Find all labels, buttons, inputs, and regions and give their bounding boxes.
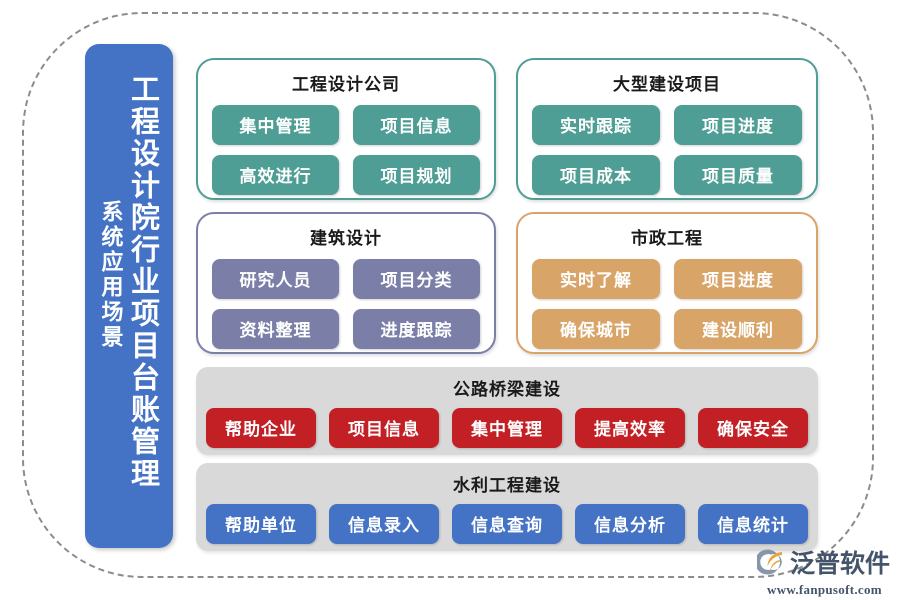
chip-item[interactable]: 实时跟踪: [532, 105, 660, 145]
watermark-logo: 泛普软件 www.fanpusoft.com: [757, 548, 897, 594]
chip-item[interactable]: 实时了解: [532, 259, 660, 299]
chip-item[interactable]: 集中管理: [452, 408, 562, 448]
band-chip-row: 帮助企业 项目信息 集中管理 提高效率 确保安全: [196, 400, 818, 448]
chip-item[interactable]: 进度跟踪: [353, 309, 480, 349]
chip-item[interactable]: 确保城市: [532, 309, 660, 349]
logo-url: www.fanpusoft.com: [767, 582, 897, 598]
side-title-main: 工程设计院行业项目台账管理: [128, 74, 157, 490]
side-title-panel: 工程设计院行业项目台账管理 系统应用场景: [85, 44, 173, 548]
chip-item[interactable]: 帮助企业: [206, 408, 316, 448]
chip-item[interactable]: 高效进行: [212, 155, 339, 195]
chip-item[interactable]: 项目质量: [674, 155, 802, 195]
card-chip-grid: 研究人员 项目分类 资料整理 进度跟踪: [198, 249, 494, 361]
card-chip-grid: 实时了解 项目进度 确保城市 建设顺利: [518, 249, 816, 361]
logo-row: 泛普软件: [757, 548, 897, 581]
band-water: 水利工程建设 帮助单位 信息录入 信息查询 信息分析 信息统计: [196, 463, 818, 551]
fanpu-swoosh-icon: [757, 548, 787, 581]
chip-item[interactable]: 确保安全: [698, 408, 808, 448]
chip-item[interactable]: 研究人员: [212, 259, 339, 299]
card-title: 工程设计公司: [198, 70, 494, 95]
chip-item[interactable]: 提高效率: [575, 408, 685, 448]
chip-item[interactable]: 建设顺利: [674, 309, 802, 349]
chip-item[interactable]: 帮助单位: [206, 504, 316, 544]
chip-item[interactable]: 项目进度: [674, 105, 802, 145]
card-architecture: 建筑设计 研究人员 项目分类 资料整理 进度跟踪: [196, 212, 496, 354]
chip-item[interactable]: 项目规划: [353, 155, 480, 195]
card-chip-grid: 实时跟踪 项目进度 项目成本 项目质量: [518, 95, 816, 207]
band-chip-row: 帮助单位 信息录入 信息查询 信息分析 信息统计: [196, 496, 818, 544]
chip-item[interactable]: 项目信息: [353, 105, 480, 145]
chip-item[interactable]: 信息录入: [329, 504, 439, 544]
band-title: 水利工程建设: [196, 471, 818, 496]
band-title: 公路桥梁建设: [196, 375, 818, 400]
card-municipal: 市政工程 实时了解 项目进度 确保城市 建设顺利: [516, 212, 818, 354]
band-highway: 公路桥梁建设 帮助企业 项目信息 集中管理 提高效率 确保安全: [196, 367, 818, 455]
chip-item[interactable]: 项目信息: [329, 408, 439, 448]
chip-item[interactable]: 信息统计: [698, 504, 808, 544]
chip-item[interactable]: 集中管理: [212, 105, 339, 145]
card-title: 大型建设项目: [518, 70, 816, 95]
chip-item[interactable]: 项目进度: [674, 259, 802, 299]
chip-item[interactable]: 项目成本: [532, 155, 660, 195]
card-chip-grid: 集中管理 项目信息 高效进行 项目规划: [198, 95, 494, 207]
chip-item[interactable]: 项目分类: [353, 259, 480, 299]
card-design-company: 工程设计公司 集中管理 项目信息 高效进行 项目规划: [196, 58, 496, 200]
side-title-sub: 系统应用场景: [100, 200, 122, 350]
chip-item[interactable]: 资料整理: [212, 309, 339, 349]
card-title: 市政工程: [518, 224, 816, 249]
diagram-canvas: 工程设计院行业项目台账管理 系统应用场景 工程设计公司 集中管理 项目信息 高效…: [0, 0, 900, 600]
logo-text: 泛普软件: [790, 552, 890, 577]
chip-item[interactable]: 信息查询: [452, 504, 562, 544]
card-large-project: 大型建设项目 实时跟踪 项目进度 项目成本 项目质量: [516, 58, 818, 200]
chip-item[interactable]: 信息分析: [575, 504, 685, 544]
card-title: 建筑设计: [198, 224, 494, 249]
